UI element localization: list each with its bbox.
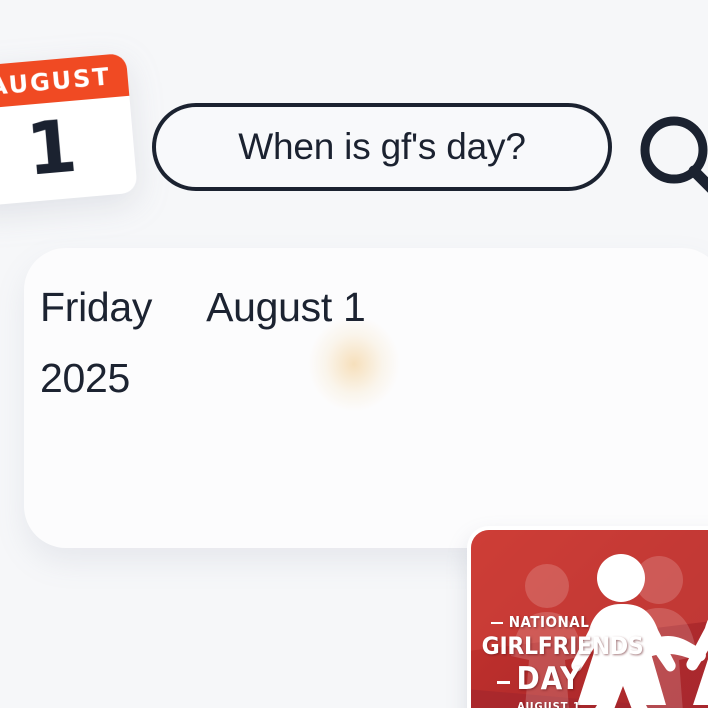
month-day-label: August 1 [206, 272, 365, 343]
date-line-secondary: 2025 [40, 343, 460, 414]
result-card[interactable]: Friday August 1 2025 [24, 248, 708, 548]
screen: AUGUST 1 When is gf's day? Friday August… [0, 0, 708, 708]
calendar-icon: AUGUST 1 [0, 53, 138, 207]
search-input[interactable]: When is gf's day? [152, 103, 612, 191]
thumbnail-line-day: DAY [497, 661, 602, 697]
thumbnail-line-national: NATIONAL [491, 613, 608, 631]
date-line-primary: Friday August 1 [40, 272, 460, 343]
date-block: Friday August 1 2025 [40, 272, 460, 413]
thumbnail-text-block: NATIONAL GIRLFRIENDS DAY AUGUST 1 [483, 612, 615, 708]
search-query-text: When is gf's day? [238, 126, 525, 168]
search-icon[interactable] [636, 112, 708, 208]
weekday-label: Friday [40, 272, 152, 343]
calendar-day-number: 1 [0, 92, 138, 203]
calendar-body: AUGUST 1 [0, 53, 138, 207]
thumbnail-image: NATIONAL GIRLFRIENDS DAY AUGUST 1 [471, 530, 708, 708]
thumbnail-line-date: AUGUST 1 [483, 700, 615, 708]
thumbnail[interactable]: NATIONAL GIRLFRIENDS DAY AUGUST 1 [467, 526, 708, 708]
thumbnail-line-girlfriends: GIRLFRIENDS [482, 632, 617, 660]
year-label: 2025 [40, 343, 130, 414]
